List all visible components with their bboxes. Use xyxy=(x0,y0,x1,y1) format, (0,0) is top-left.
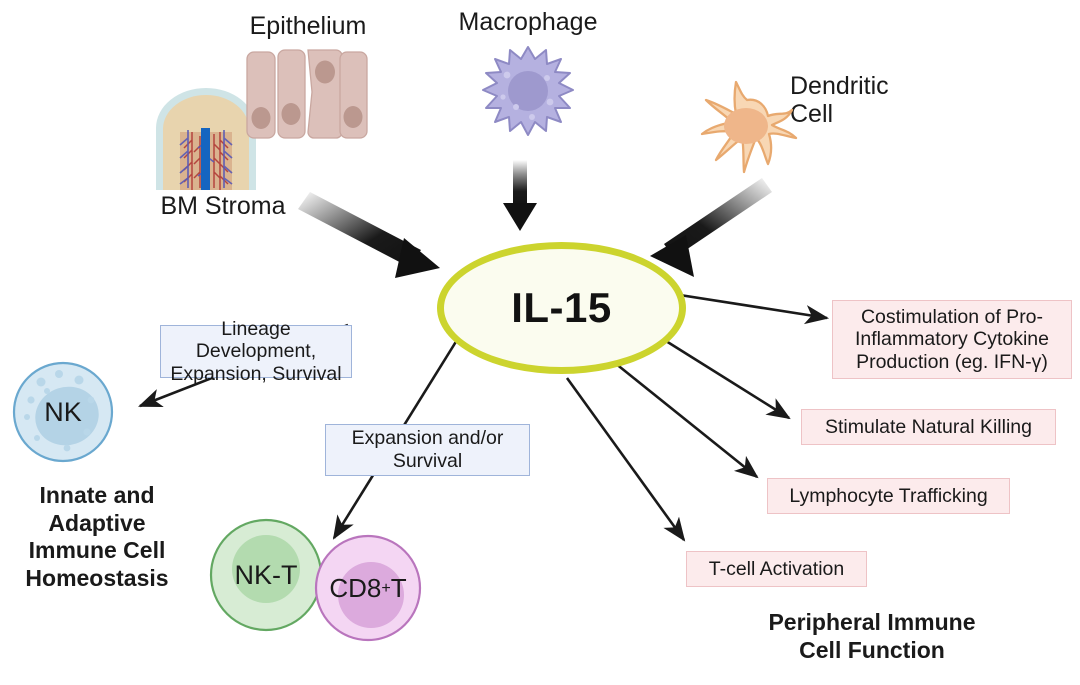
box-lymphocyte-trafficking[interactable]: Lymphocyte Trafficking xyxy=(767,478,1010,514)
box-t-cell-activation[interactable]: T-cell Activation xyxy=(686,551,867,587)
box-lineage-development[interactable]: Lineage Development, Expansion, Survival xyxy=(160,325,352,378)
cd8t-superscript: + xyxy=(381,579,390,598)
arrow-to-stimulate-natural-killing xyxy=(650,331,789,418)
box-stimulate-natural-killing[interactable]: Stimulate Natural Killing xyxy=(801,409,1056,445)
cd8t-cell-label-suffix: T xyxy=(391,573,407,604)
dendritic-cell-icon xyxy=(688,68,806,184)
il15-label: IL-15 xyxy=(511,284,612,332)
cd8t-cell-label: CD8+ T xyxy=(313,533,423,643)
box-expansion-survival[interactable]: Expansion and/or Survival xyxy=(325,424,530,476)
thick-arrow-bm-stroma xyxy=(298,192,440,278)
nk-cell-label: NK xyxy=(11,360,115,464)
thick-arrow-dendritic-cell xyxy=(650,178,772,277)
macrophage-icon xyxy=(475,45,581,149)
arrow-to-costimulation xyxy=(667,293,827,318)
cd8t-cell-label-text: CD8 xyxy=(329,573,381,604)
diagram-canvas: NK NK-T CD8+ T Epithelium BM Stroma Macr… xyxy=(0,0,1080,685)
arrow-to-t-cell-activation xyxy=(567,378,684,540)
box-costimulation[interactable]: Costimulation of Pro- Inflammatory Cytok… xyxy=(832,300,1072,379)
arrow-to-lymphocyte-trafficking xyxy=(610,359,757,477)
nkt-cell-label: NK-T xyxy=(208,517,324,633)
epithelium-icon xyxy=(245,48,369,140)
il15-node[interactable]: IL-15 xyxy=(437,242,686,374)
thick-arrow-macrophage xyxy=(503,160,537,231)
